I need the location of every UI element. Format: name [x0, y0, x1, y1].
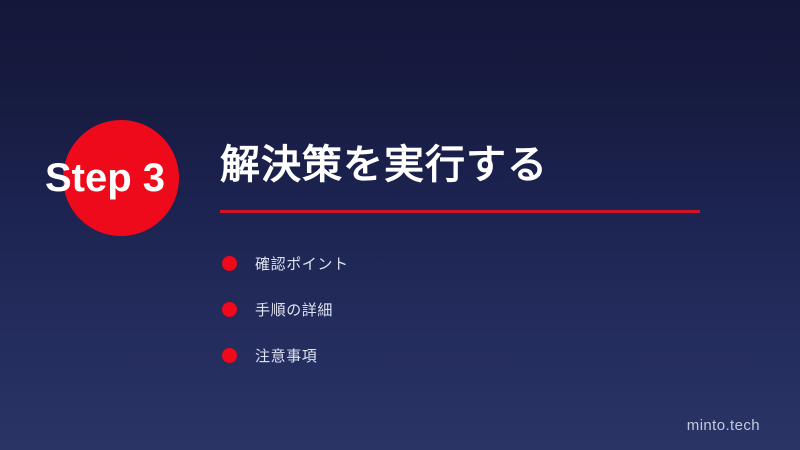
bullet-dot-icon	[222, 348, 237, 363]
list-item-label: 確認ポイント	[255, 253, 349, 274]
slide-title: 解決策を実行する	[220, 143, 548, 188]
list-item-label: 手順の詳細	[255, 299, 333, 320]
slide-canvas: Step 3 解決策を実行する 確認ポイント 手順の詳細 注意事項 minto.…	[0, 0, 800, 450]
list-item: 確認ポイント	[222, 240, 349, 286]
list-item: 注意事項	[222, 332, 349, 378]
list-item-label: 注意事項	[255, 345, 317, 366]
bullet-dot-icon	[222, 302, 237, 317]
title-underline-rule	[220, 210, 700, 213]
step-badge-label: Step 3	[45, 155, 205, 201]
watermark-label: minto.tech	[687, 417, 760, 434]
bullet-dot-icon	[222, 256, 237, 271]
bullet-list: 確認ポイント 手順の詳細 注意事項	[222, 240, 349, 378]
list-item: 手順の詳細	[222, 286, 349, 332]
